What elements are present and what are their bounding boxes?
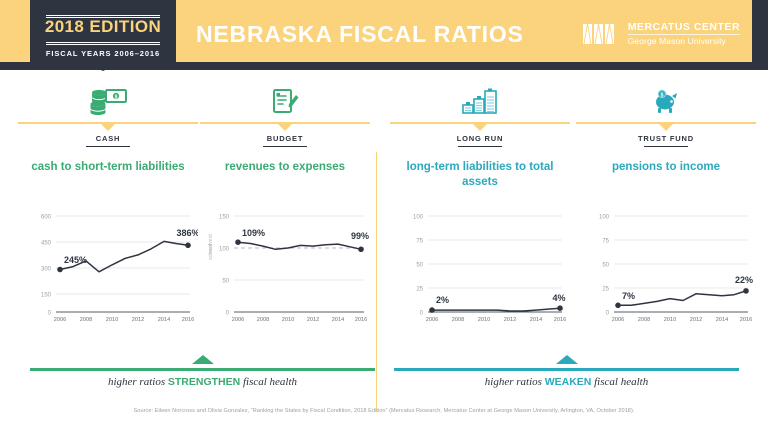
budget-document-icon bbox=[200, 86, 370, 116]
cash-money-icon: $ bbox=[18, 86, 198, 116]
svg-text:$: $ bbox=[661, 92, 664, 98]
chart-cash-svg: 600 450 300 150 0 2006 2008 2010 2012 20… bbox=[18, 202, 198, 332]
svg-text:300: 300 bbox=[41, 267, 52, 273]
svg-text:2008: 2008 bbox=[638, 317, 650, 323]
svg-text:2016: 2016 bbox=[554, 317, 566, 323]
chart-long-run: 100 75 50 25 0 2006 2008 2010 2012 2014 … bbox=[390, 202, 570, 332]
kicker-underline bbox=[644, 146, 688, 147]
edition-rule-top bbox=[46, 15, 160, 16]
svg-text:100: 100 bbox=[599, 215, 610, 221]
footer-left-group: higher ratios STRENGTHEN fiscal health bbox=[30, 362, 375, 406]
svg-text:2016: 2016 bbox=[182, 317, 194, 323]
chart-trust-fund-svg: 100 75 50 25 0 2006 2008 2010 2012 2014 … bbox=[576, 202, 756, 332]
weaken-caption-pre: higher ratios bbox=[485, 376, 545, 388]
svg-text:2014: 2014 bbox=[158, 317, 170, 323]
svg-text:2012: 2012 bbox=[307, 317, 319, 323]
svg-text:0: 0 bbox=[606, 311, 610, 317]
chart-cash-start-label: 245% bbox=[64, 255, 87, 265]
chart-budget-end-label: 99% bbox=[351, 231, 369, 241]
svg-text:50: 50 bbox=[602, 263, 609, 269]
svg-text:75: 75 bbox=[602, 239, 609, 245]
chart-budget-start-label: 109% bbox=[242, 228, 265, 238]
weaken-arrow-up-icon bbox=[556, 355, 578, 364]
svg-text:2014: 2014 bbox=[716, 317, 728, 323]
strengthen-caption-pre: higher ratios bbox=[108, 376, 168, 388]
mercatus-logo: MERCATUS CENTER George Mason University bbox=[583, 22, 740, 46]
kicker-underline bbox=[86, 146, 130, 147]
svg-text:2016: 2016 bbox=[355, 317, 367, 323]
svg-text:2008: 2008 bbox=[452, 317, 464, 323]
bar-buildings-icon bbox=[390, 86, 570, 116]
svg-text:2010: 2010 bbox=[664, 317, 676, 323]
svg-text:50: 50 bbox=[222, 279, 229, 285]
svg-text:0: 0 bbox=[226, 311, 230, 317]
svg-text:2012: 2012 bbox=[690, 317, 702, 323]
page-title: NEBRASKA FISCAL RATIOS bbox=[196, 21, 524, 48]
strengthen-caption-strong: STRENGTHEN bbox=[168, 376, 240, 388]
source-citation: Source: Eileen Norcross and Olivia Gonza… bbox=[0, 408, 768, 414]
svg-text:2010: 2010 bbox=[282, 317, 294, 323]
chart-budget: 150 100 50 0 solvent insolvent 2006 2008… bbox=[200, 202, 370, 332]
strengthen-arrow-up-icon bbox=[192, 355, 214, 364]
kicker-underline bbox=[263, 146, 307, 147]
svg-text:2012: 2012 bbox=[504, 317, 516, 323]
panel-headline-budget: revenues to expenses bbox=[200, 160, 370, 175]
mercatus-logo-subtitle: George Mason University bbox=[628, 37, 740, 46]
svg-text:25: 25 bbox=[416, 287, 423, 293]
svg-text:600: 600 bbox=[41, 215, 52, 221]
svg-text:$: $ bbox=[115, 94, 118, 100]
chart-trust-fund: 100 75 50 25 0 2006 2008 2010 2012 2014 … bbox=[576, 202, 756, 332]
svg-text:100: 100 bbox=[219, 247, 230, 253]
svg-text:100: 100 bbox=[413, 215, 424, 221]
svg-text:2006: 2006 bbox=[54, 317, 66, 323]
panel-headline-long-run: long-term liabilities to total assets bbox=[390, 160, 570, 189]
footer-right-group: higher ratios WEAKEN fiscal health bbox=[394, 362, 739, 406]
chart-long-run-end-label: 4% bbox=[552, 293, 565, 303]
piggy-bank-icon: $ bbox=[576, 86, 756, 116]
edition-badge: 2018 EDITION FISCAL YEARS 2006–2016 bbox=[30, 0, 176, 70]
svg-text:2006: 2006 bbox=[232, 317, 244, 323]
svg-text:50: 50 bbox=[416, 263, 423, 269]
svg-text:25: 25 bbox=[602, 287, 609, 293]
svg-text:2014: 2014 bbox=[530, 317, 542, 323]
edition-year-label: 2018 EDITION bbox=[30, 17, 176, 37]
panel-kicker-trust-fund: TRUST FUND bbox=[576, 134, 756, 143]
chart-budget-svg: 150 100 50 0 solvent insolvent 2006 2008… bbox=[200, 202, 370, 332]
svg-text:2016: 2016 bbox=[740, 317, 752, 323]
strengthen-caption: higher ratios STRENGTHEN fiscal health bbox=[30, 376, 375, 388]
mercatus-logo-name: MERCATUS CENTER bbox=[628, 22, 740, 35]
svg-text:75: 75 bbox=[416, 239, 423, 245]
weaken-bar bbox=[394, 368, 739, 371]
panel-kicker-budget: BUDGET bbox=[200, 134, 370, 143]
svg-text:2006: 2006 bbox=[426, 317, 438, 323]
strengthen-bar bbox=[30, 368, 375, 371]
svg-text:0: 0 bbox=[48, 311, 52, 317]
chart-trust-fund-start-label: 7% bbox=[622, 291, 635, 301]
svg-text:2014: 2014 bbox=[332, 317, 344, 323]
svg-text:2006: 2006 bbox=[612, 317, 624, 323]
weaken-caption-post: fiscal health bbox=[591, 376, 648, 388]
weaken-caption: higher ratios WEAKEN fiscal health bbox=[394, 376, 739, 388]
svg-text:2010: 2010 bbox=[106, 317, 118, 323]
svg-text:150: 150 bbox=[41, 293, 52, 299]
footer: higher ratios STRENGTHEN fiscal health h… bbox=[0, 362, 768, 432]
edition-rule-bottom bbox=[46, 42, 160, 43]
panel-cash: $ CASH cash to short-term liabilities 60… bbox=[18, 70, 198, 360]
edition-fiscal-years-label: FISCAL YEARS 2006–2016 bbox=[30, 49, 176, 58]
ratio-panels: $ CASH cash to short-term liabilities 60… bbox=[0, 70, 768, 360]
panel-rule bbox=[576, 122, 756, 124]
panel-budget: BUDGET revenues to expenses 150 100 50 0… bbox=[200, 70, 370, 360]
svg-text:150: 150 bbox=[219, 215, 230, 221]
svg-text:2010: 2010 bbox=[478, 317, 490, 323]
panel-kicker-long-run: LONG RUN bbox=[390, 134, 570, 143]
weaken-caption-strong: WEAKEN bbox=[545, 376, 592, 388]
strengthen-caption-post: fiscal health bbox=[240, 376, 297, 388]
panel-rule bbox=[200, 122, 370, 124]
chart-budget-note-insolvent: insolvent bbox=[208, 234, 214, 254]
mercatus-logo-mark-icon bbox=[583, 23, 621, 45]
mercatus-logo-text: MERCATUS CENTER George Mason University bbox=[628, 22, 740, 46]
panel-headline-cash: cash to short-term liabilities bbox=[18, 160, 198, 175]
chart-trust-fund-end-label: 22% bbox=[735, 275, 753, 285]
svg-text:0: 0 bbox=[420, 311, 424, 317]
kicker-underline bbox=[458, 146, 502, 147]
svg-text:2008: 2008 bbox=[80, 317, 92, 323]
panel-rule bbox=[390, 122, 570, 124]
panel-trust-fund: $ TRUST FUND pensions to income 100 75 bbox=[576, 70, 756, 360]
chart-long-run-svg: 100 75 50 25 0 2006 2008 2010 2012 2014 … bbox=[390, 202, 570, 332]
panel-rule bbox=[18, 122, 198, 124]
chart-cash: 600 450 300 150 0 2006 2008 2010 2012 20… bbox=[18, 202, 198, 332]
svg-text:450: 450 bbox=[41, 241, 52, 247]
svg-text:2012: 2012 bbox=[132, 317, 144, 323]
panel-long-run: LONG RUN long-term liabilities to total … bbox=[390, 70, 570, 360]
header-banner: 2018 EDITION FISCAL YEARS 2006–2016 NEBR… bbox=[0, 0, 768, 70]
svg-text:2008: 2008 bbox=[257, 317, 269, 323]
chart-long-run-start-label: 2% bbox=[436, 295, 449, 305]
panel-kicker-cash: CASH bbox=[18, 134, 198, 143]
panel-headline-trust-fund: pensions to income bbox=[576, 160, 756, 175]
chart-cash-end-label: 386% bbox=[176, 228, 198, 238]
